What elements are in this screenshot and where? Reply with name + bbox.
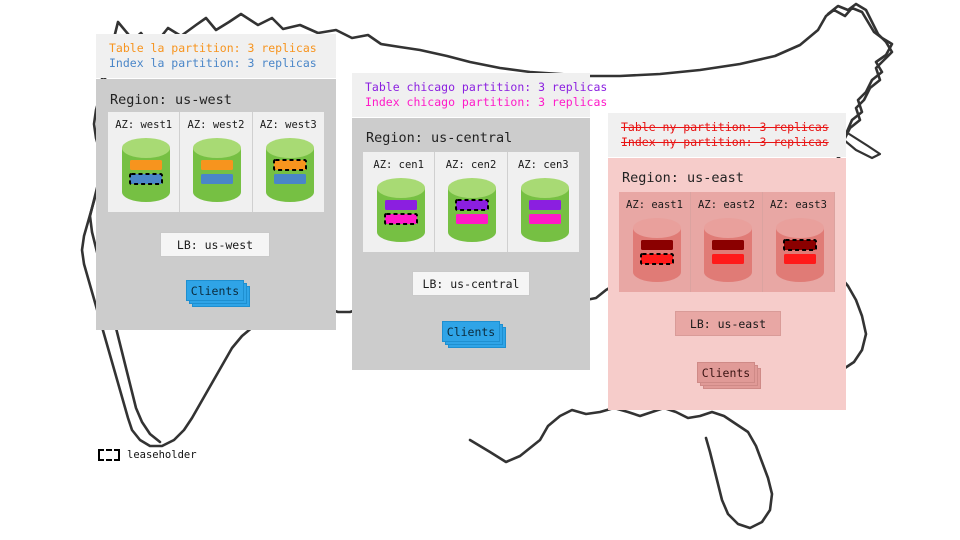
az-cen2[interactable]: AZ: cen2 <box>435 152 507 252</box>
az-label-cen3: AZ: cen3 <box>508 159 579 171</box>
header-line-index-us-west: Index la partition: 3 replicas <box>109 56 325 71</box>
database-cylinder-east3 <box>774 216 826 284</box>
database-cylinder-west1 <box>120 136 172 204</box>
az-west2[interactable]: AZ: west2 <box>180 112 252 212</box>
header-us-east: Table ny partition: 3 replicas Index ny … <box>608 113 846 157</box>
clients-stack-us-central: Clients <box>442 321 512 351</box>
legend: leaseholder <box>98 449 197 461</box>
header-line-index-us-east: Index ny partition: 3 replicas <box>621 135 835 150</box>
az-cen3[interactable]: AZ: cen3 <box>508 152 579 252</box>
load-balancer-us-central[interactable]: LB: us-central <box>412 271 530 296</box>
clients-box-us-east[interactable]: Clients <box>697 362 755 383</box>
region-title-us-west: Region: us-west <box>110 92 232 108</box>
clients-stack-us-west: Clients <box>186 280 256 310</box>
az-east2[interactable]: AZ: east2 <box>691 192 763 292</box>
load-balancer-us-east[interactable]: LB: us-east <box>675 311 781 336</box>
az-strip-us-central: AZ: cen1 AZ: cen2 <box>363 152 579 252</box>
database-cylinder-cen3 <box>519 176 571 244</box>
header-line-table-us-central: Table chicago partition: 3 replicas <box>365 80 579 95</box>
clients-box-us-central[interactable]: Clients <box>442 321 500 342</box>
database-cylinder-west3 <box>264 136 316 204</box>
az-strip-us-west: AZ: west1 AZ: west2 <box>108 112 324 212</box>
az-label-cen1: AZ: cen1 <box>363 159 434 171</box>
header-us-central: Table chicago partition: 3 replicas Inde… <box>352 73 590 117</box>
clients-box-us-west[interactable]: Clients <box>186 280 244 301</box>
database-cylinder-west2 <box>191 136 243 204</box>
az-label-cen2: AZ: cen2 <box>435 159 506 171</box>
load-balancer-us-west[interactable]: LB: us-west <box>160 232 270 257</box>
legend-label: leaseholder <box>127 449 197 461</box>
az-label-east2: AZ: east2 <box>691 199 762 211</box>
header-us-west: Table la partition: 3 replicas Index la … <box>96 34 336 78</box>
header-line-table-us-east: Table ny partition: 3 replicas <box>621 120 835 135</box>
az-west3[interactable]: AZ: west3 <box>253 112 324 212</box>
az-east3[interactable]: AZ: east3 <box>763 192 835 292</box>
az-label-west1: AZ: west1 <box>108 119 179 131</box>
az-label-east3: AZ: east3 <box>763 199 834 211</box>
clients-stack-us-east: Clients <box>697 362 767 392</box>
az-strip-us-east: AZ: east1 AZ: east2 <box>619 192 835 292</box>
region-title-us-central: Region: us-central <box>366 130 512 146</box>
az-label-east1: AZ: east1 <box>619 199 690 211</box>
diagram-canvas: Table la partition: 3 replicas Index la … <box>0 0 960 540</box>
database-cylinder-east1 <box>631 216 683 284</box>
az-west1[interactable]: AZ: west1 <box>108 112 180 212</box>
az-label-west3: AZ: west3 <box>253 119 324 131</box>
leaseholder-swatch-icon <box>98 449 120 461</box>
database-cylinder-cen2 <box>446 176 498 244</box>
database-cylinder-east2 <box>702 216 754 284</box>
header-line-table-us-west: Table la partition: 3 replicas <box>109 41 325 56</box>
az-label-west2: AZ: west2 <box>180 119 251 131</box>
az-cen1[interactable]: AZ: cen1 <box>363 152 435 252</box>
database-cylinder-cen1 <box>375 176 427 244</box>
region-title-us-east: Region: us-east <box>622 170 744 186</box>
header-line-index-us-central: Index chicago partition: 3 replicas <box>365 95 579 110</box>
az-east1[interactable]: AZ: east1 <box>619 192 691 292</box>
